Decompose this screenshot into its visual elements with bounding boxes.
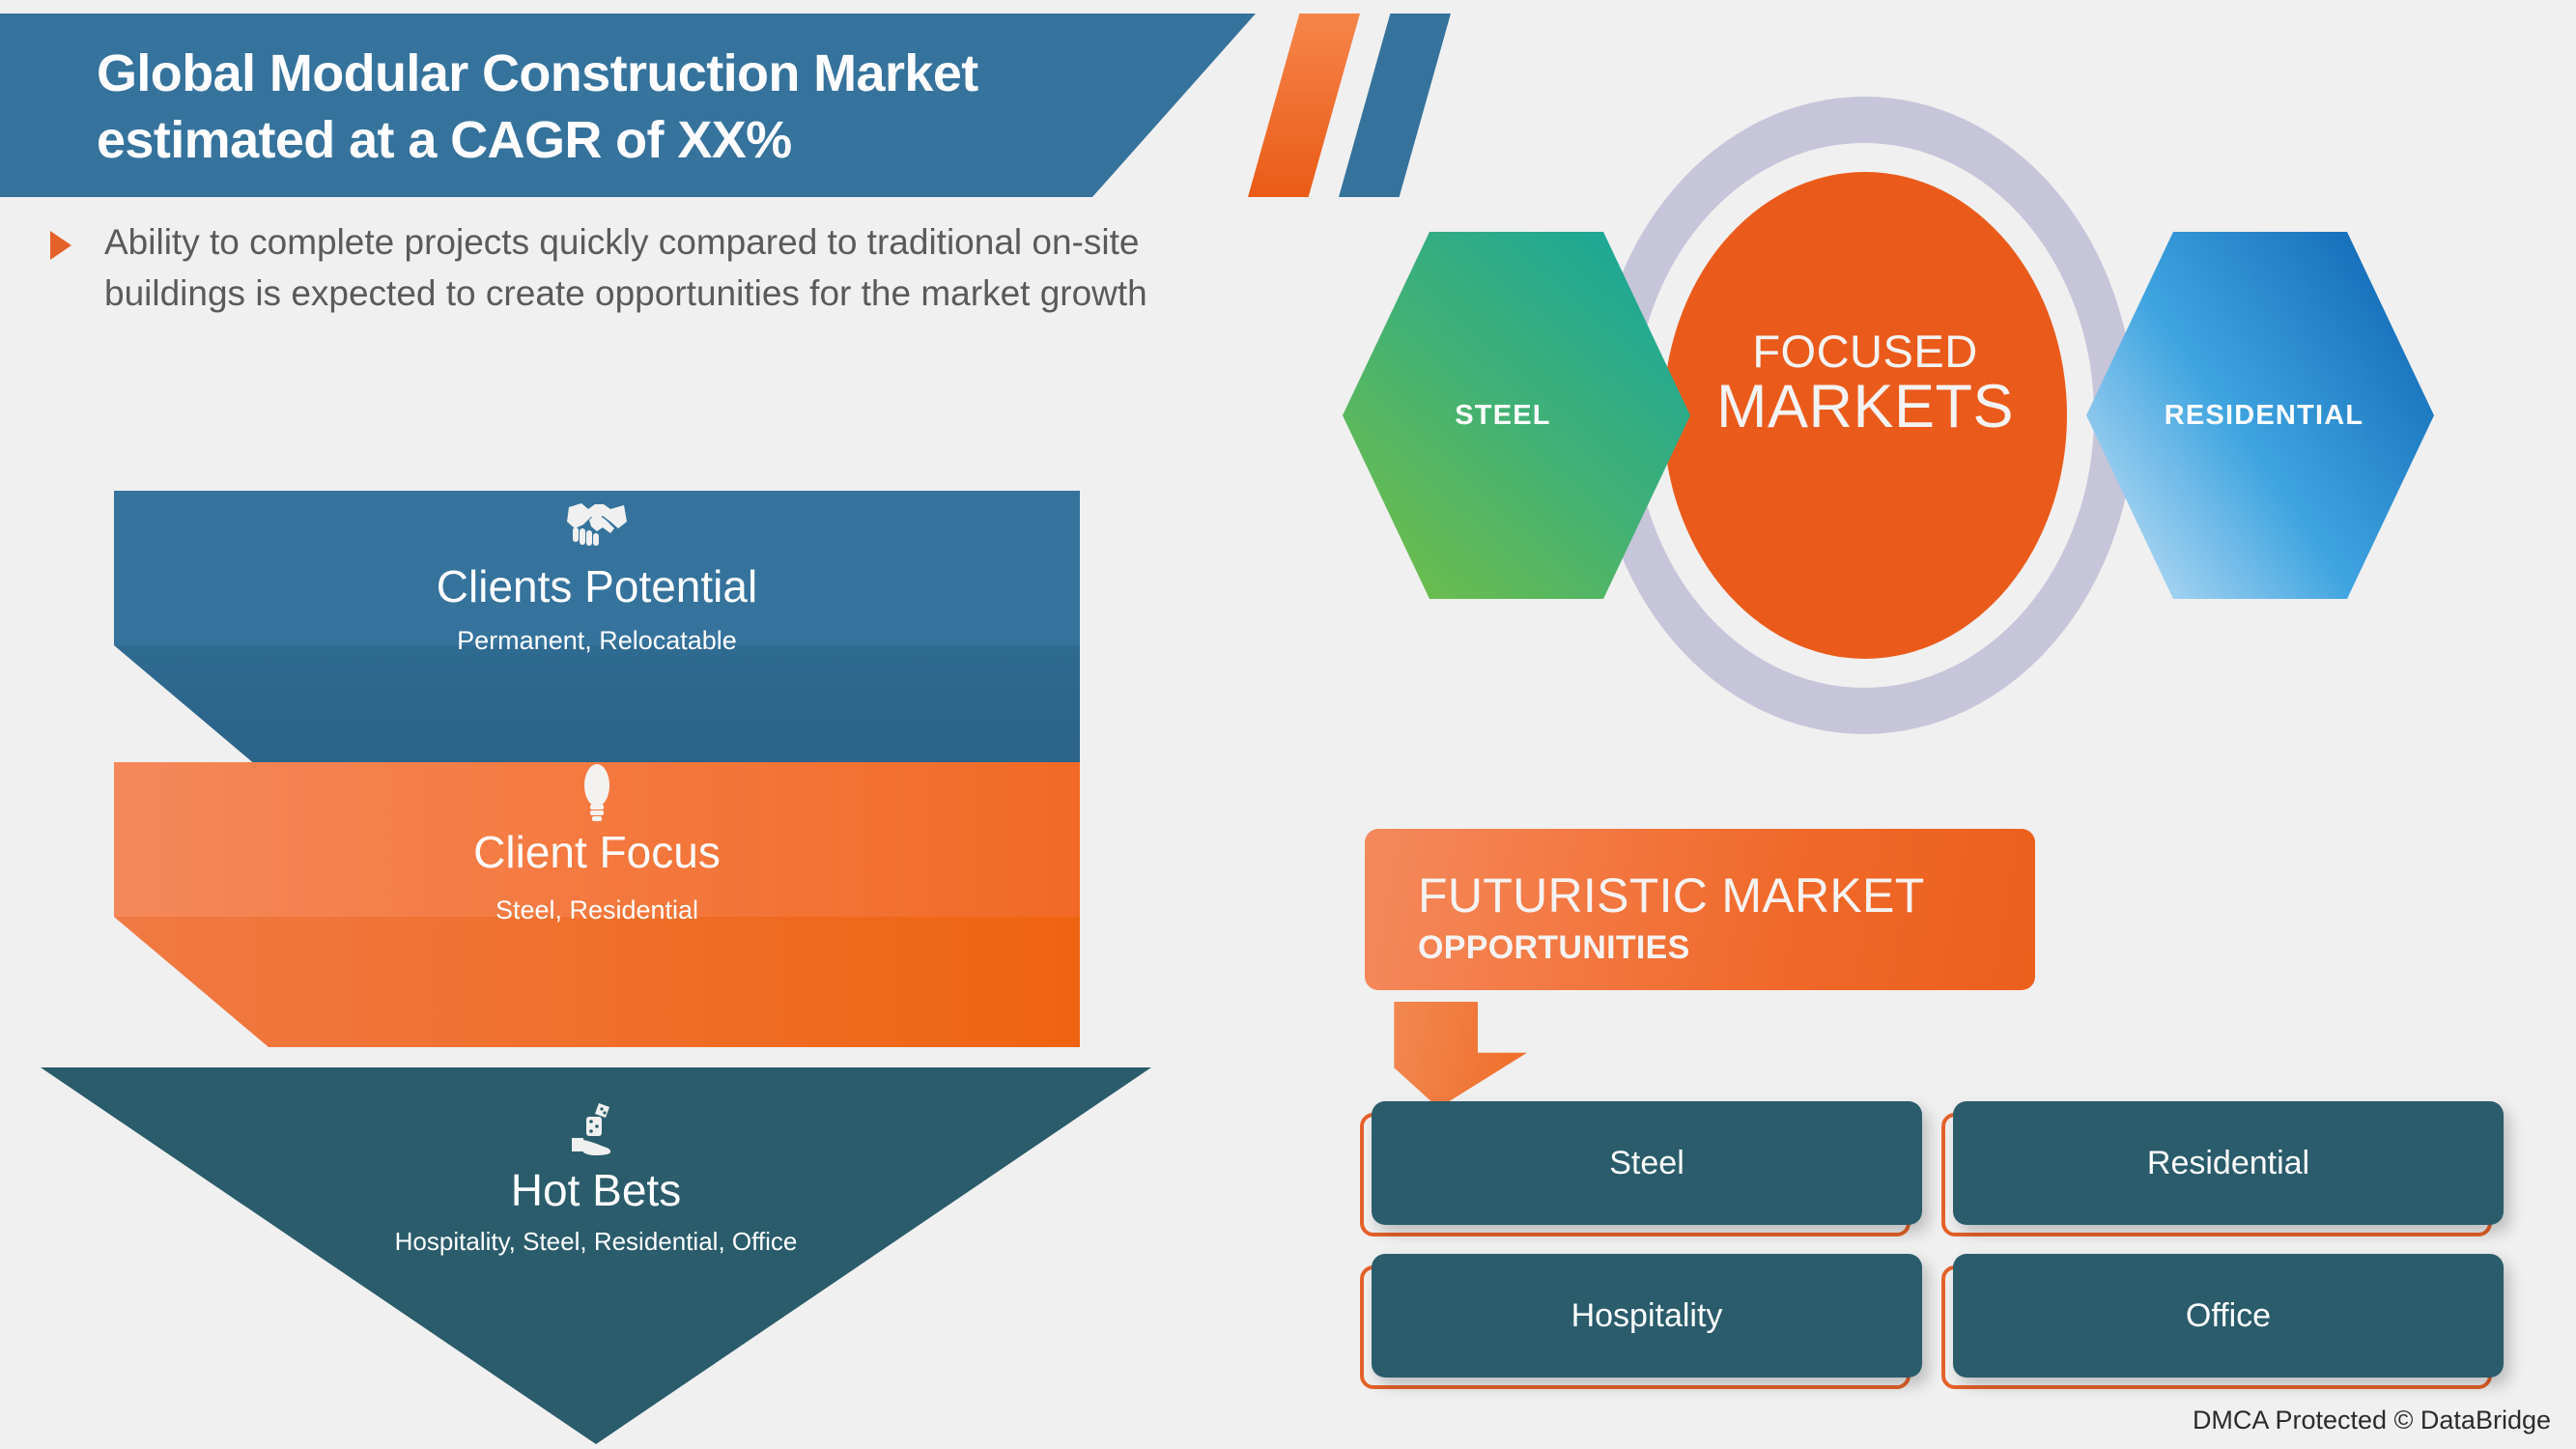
bullet-text: Ability to complete projects quickly com… <box>104 217 1258 319</box>
opportunity-card-label: Hospitality <box>1571 1297 1723 1335</box>
opportunity-card-label: Office <box>2186 1297 2271 1335</box>
card-surface: Residential <box>1953 1101 2504 1225</box>
dmca-footer: DMCA Protected © DataBridge <box>2193 1406 2551 1435</box>
hexagon-steel-label: STEEL <box>1455 400 1550 432</box>
card-surface: Office <box>1953 1254 2504 1378</box>
funnel-band-title: Clients Potential <box>114 560 1080 612</box>
infographic-slide: Global Modular Construction Market estim… <box>0 0 2576 1449</box>
opportunity-card-hospitality[interactable]: Hospitality <box>1372 1254 1922 1378</box>
funnel-band-subtitle: Steel, Residential <box>114 895 1080 925</box>
center-label-line1: FOCUSED <box>1663 328 2067 374</box>
card-surface: Hospitality <box>1372 1254 1922 1378</box>
focused-markets-diagram: STEEL RESIDENTIAL FOCUSED MARKETS <box>1352 87 2576 782</box>
futuristic-market-subtitle: OPPORTUNITIES <box>1418 929 1690 967</box>
handshake-icon <box>114 498 1080 549</box>
header-stripe-orange <box>1248 14 1360 197</box>
opportunity-card-label: Residential <box>2147 1145 2309 1182</box>
center-label-line2: MARKETS <box>1663 374 2067 440</box>
center-label: FOCUSED MARKETS <box>1663 328 2067 440</box>
hand-dice-icon <box>41 1101 1151 1159</box>
funnel-fold <box>114 645 1080 776</box>
opportunity-card-steel[interactable]: Steel <box>1372 1101 1922 1225</box>
funnel-band-hot-bets[interactable]: Hot Bets Hospitality, Steel, Residential… <box>41 1067 1151 1444</box>
bullet-block: Ability to complete projects quickly com… <box>50 217 1258 319</box>
funnel-band-title: Hot Bets <box>41 1164 1151 1216</box>
opportunity-card-residential[interactable]: Residential <box>1953 1101 2504 1225</box>
lightbulb-icon <box>114 762 1080 824</box>
funnel-band-title: Client Focus <box>114 826 1080 878</box>
card-surface: Steel <box>1372 1101 1922 1225</box>
opportunity-card-office[interactable]: Office <box>1953 1254 2504 1378</box>
futuristic-market-title: FUTURISTIC MARKET <box>1418 867 1925 923</box>
hexagon-residential[interactable]: RESIDENTIAL <box>2086 232 2434 599</box>
page-title: Global Modular Construction Market estim… <box>97 41 1236 174</box>
hexagon-residential-label: RESIDENTIAL <box>2165 400 2364 432</box>
funnel-fold <box>114 917 1080 1047</box>
bullet-triangle-icon <box>50 231 71 260</box>
funnel-band-subtitle: Hospitality, Steel, Residential, Office <box>41 1227 1151 1257</box>
down-arrow-icon <box>1379 1002 1543 1108</box>
opportunity-card-label: Steel <box>1609 1145 1684 1182</box>
funnel-band-subtitle: Permanent, Relocatable <box>114 626 1080 656</box>
